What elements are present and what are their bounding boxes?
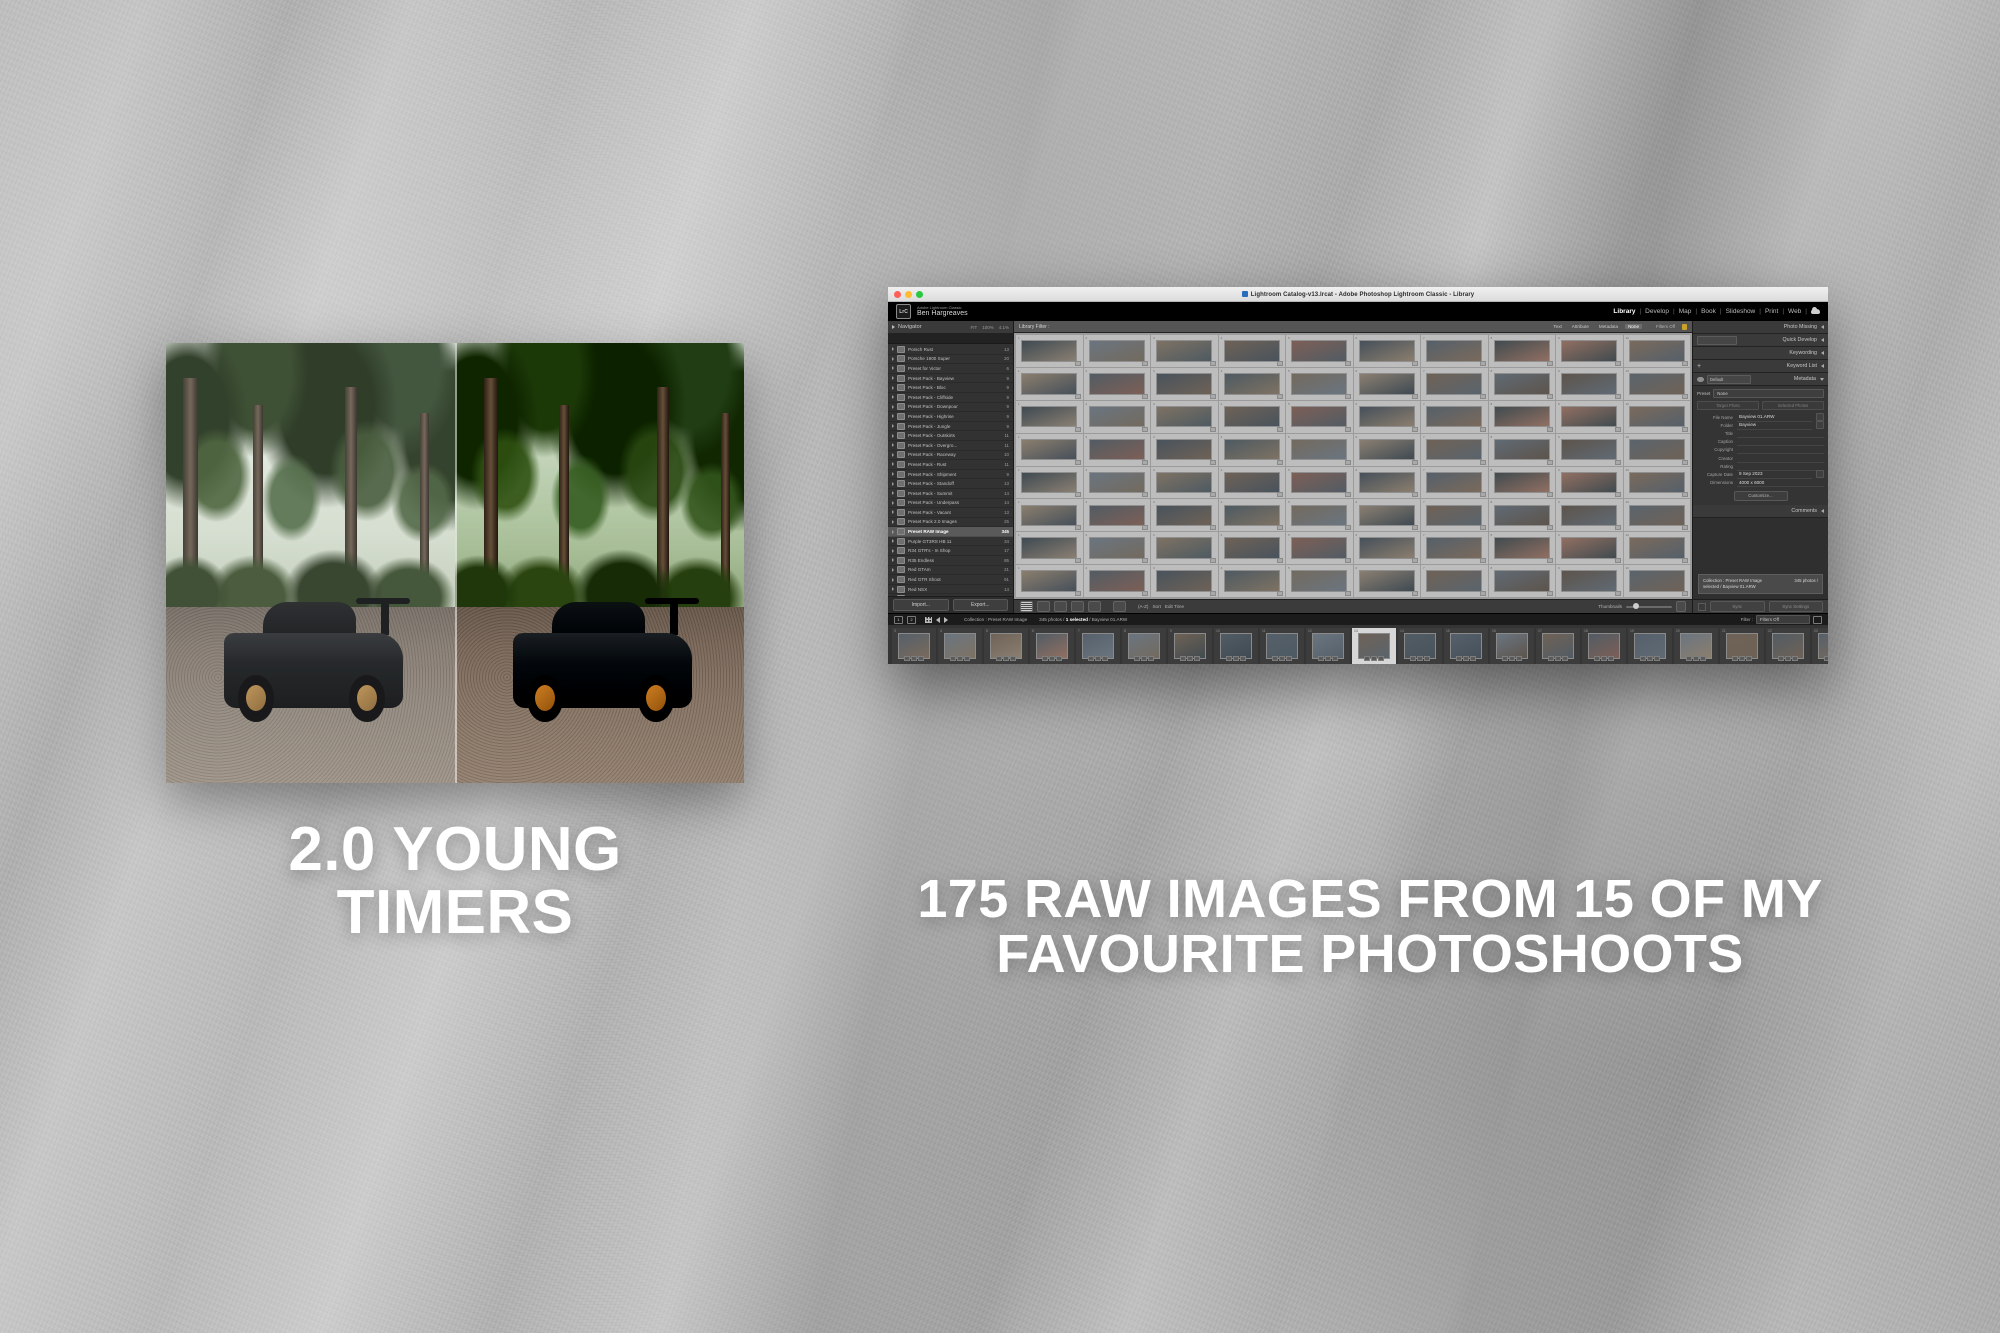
grid-thumbnail-cell[interactable]: 8 xyxy=(1489,434,1556,466)
disclosure-triangle-icon[interactable] xyxy=(892,530,894,534)
cell-badge-icon[interactable] xyxy=(1615,460,1621,465)
cell-badge-icon[interactable] xyxy=(1682,591,1688,596)
section-keywording[interactable]: Keywording xyxy=(1693,347,1828,360)
filmstrip[interactable]: 3456789101112131415161718192021222324 xyxy=(888,625,1828,664)
filmstrip-thumbnail[interactable]: 10 xyxy=(1214,628,1258,664)
identity-plate[interactable]: Adobe Lightroom Classic Ben Hargreaves xyxy=(917,305,968,319)
cell-badge-icon[interactable] xyxy=(1210,558,1216,563)
cell-badge-icon[interactable] xyxy=(1547,394,1553,399)
grid-thumbnail-cell[interactable]: 2 xyxy=(1084,532,1151,564)
cell-badge-icon[interactable] xyxy=(1277,591,1283,596)
collection-item[interactable]: Preset Pack - Rust11 xyxy=(888,460,1013,470)
cell-badge-icon[interactable] xyxy=(1412,427,1418,432)
collection-item[interactable]: R35 Endless85 xyxy=(888,556,1013,566)
grid-thumbnail-cell[interactable]: 5 xyxy=(1286,368,1353,400)
module-picker[interactable]: Library | Develop | Map | Book | Slidesh… xyxy=(1613,308,1820,315)
grid-thumbnail-cell[interactable]: 1 xyxy=(1016,565,1083,597)
filmstrip-thumbnail[interactable]: 9 xyxy=(1168,628,1212,664)
section-photo-missing[interactable]: Photo Missing xyxy=(1693,321,1828,334)
filmstrip-thumbnail[interactable]: 7 xyxy=(1076,628,1120,664)
grid-thumbnail-cell[interactable]: 5 xyxy=(1286,401,1353,433)
collection-item[interactable]: Preset Pack - Downpour9 xyxy=(888,403,1013,413)
cell-badge-icon[interactable] xyxy=(1480,361,1486,366)
grid-thumbnail-cell[interactable]: 5 xyxy=(1286,467,1353,499)
filter-select[interactable]: Filters Off xyxy=(1756,615,1810,624)
grid-thumbnail-cell[interactable]: 10 xyxy=(1624,401,1691,433)
zoom-fit[interactable]: FIT xyxy=(970,325,977,330)
collection-item[interactable]: Preset Pack - Underpass14 xyxy=(888,499,1013,509)
disclosure-triangle-icon[interactable] xyxy=(892,472,894,476)
metadata-target-buttons[interactable]: Target Photo Selected Photos xyxy=(1697,401,1824,410)
grid-thumbnail-cell[interactable]: 1 xyxy=(1016,467,1083,499)
disclosure-triangle-icon[interactable] xyxy=(892,462,894,466)
grid-thumbnail-cell[interactable]: 3 xyxy=(1151,467,1218,499)
disclosure-triangle-icon[interactable] xyxy=(892,578,894,582)
metadata-field-action-icon[interactable] xyxy=(1816,413,1824,421)
grid-thumbnail-cell[interactable]: 2 xyxy=(1084,467,1151,499)
eye-icon[interactable] xyxy=(1697,377,1704,382)
grid-thumbnail-cell[interactable]: 9 xyxy=(1556,467,1623,499)
grid-toolbar[interactable]: (A-Z) Sort Edit Time Thumbnails xyxy=(1014,599,1692,613)
grid-thumbnail-cell[interactable]: 1 xyxy=(1016,368,1083,400)
grid-thumbnail-cell[interactable]: 2 xyxy=(1084,401,1151,433)
cell-badge-icon[interactable] xyxy=(1210,361,1216,366)
grid-thumbnail-cell[interactable]: 10 xyxy=(1624,565,1691,597)
filmstrip-thumbnail[interactable]: 4 xyxy=(938,628,982,664)
filmstrip-badges[interactable] xyxy=(996,656,1016,662)
filmstrip-thumbnail[interactable]: 15 xyxy=(1444,628,1488,664)
cell-badge-icon[interactable] xyxy=(1210,427,1216,432)
cell-badge-icon[interactable] xyxy=(1277,361,1283,366)
cell-badge-icon[interactable] xyxy=(1682,427,1688,432)
disclosure-triangle-icon[interactable] xyxy=(892,510,894,514)
filmstrip-thumbnail[interactable]: 13 xyxy=(1352,628,1396,664)
grid-thumbnail-cell[interactable]: 9 xyxy=(1556,565,1623,597)
cell-badge-icon[interactable] xyxy=(1142,591,1148,596)
grid-thumbnail-cell[interactable]: 7 xyxy=(1421,401,1488,433)
filter-tab-text[interactable]: Text xyxy=(1550,324,1564,329)
cell-badge-icon[interactable] xyxy=(1345,427,1351,432)
cell-badge-icon[interactable] xyxy=(1277,394,1283,399)
grid-thumbnail-cell[interactable]: 10 xyxy=(1624,499,1691,531)
cell-badge-icon[interactable] xyxy=(1142,460,1148,465)
filmstrip-badges[interactable] xyxy=(1272,656,1292,662)
disclosure-triangle-icon[interactable] xyxy=(892,366,894,370)
filmstrip-badges[interactable] xyxy=(950,656,970,662)
caret-left-icon[interactable] xyxy=(1821,364,1824,368)
thumbnail-size-control[interactable]: Thumbnails xyxy=(1598,601,1686,612)
disclosure-triangle-icon[interactable] xyxy=(892,325,895,329)
grid-thumbnail-cell[interactable]: 7 xyxy=(1421,434,1488,466)
filmstrip-thumbnail[interactable]: 20 xyxy=(1674,628,1718,664)
sync-settings-button[interactable]: Sync Settings xyxy=(1769,601,1824,612)
grid-thumbnail-cell[interactable]: 5 xyxy=(1286,499,1353,531)
cell-badge-icon[interactable] xyxy=(1682,558,1688,563)
grid-thumbnail-cell[interactable]: 8 xyxy=(1489,401,1556,433)
collection-item[interactable]: Preset Pack - Bloc9 xyxy=(888,383,1013,393)
cell-badge-icon[interactable] xyxy=(1210,394,1216,399)
cell-badge-icon[interactable] xyxy=(1075,525,1081,530)
cell-badge-icon[interactable] xyxy=(1277,460,1283,465)
sync-row[interactable]: Sync Sync Settings xyxy=(1693,599,1828,613)
grid-thumbnail-cell[interactable]: 2 xyxy=(1084,565,1151,597)
cell-badge-icon[interactable] xyxy=(1412,394,1418,399)
module-library[interactable]: Library xyxy=(1613,308,1635,315)
disclosure-triangle-icon[interactable] xyxy=(892,376,894,380)
filmstrip-badges[interactable] xyxy=(1594,656,1614,662)
sort-az-icon[interactable]: (A-Z) xyxy=(1138,604,1148,609)
cell-badge-icon[interactable] xyxy=(1682,394,1688,399)
filmstrip-filter[interactable]: Filter : Filters Off xyxy=(1741,615,1822,624)
cell-badge-icon[interactable] xyxy=(1547,525,1553,530)
cell-badge-icon[interactable] xyxy=(1615,394,1621,399)
disclosure-triangle-icon[interactable] xyxy=(892,395,894,399)
disclosure-triangle-icon[interactable] xyxy=(892,443,894,447)
grid-thumbnail-cell[interactable]: 3 xyxy=(1151,401,1218,433)
filmstrip-badges[interactable] xyxy=(1686,656,1706,662)
cell-badge-icon[interactable] xyxy=(1075,558,1081,563)
cell-badge-icon[interactable] xyxy=(1682,492,1688,497)
filmstrip-bar[interactable]: 1 2 Collection : Preset RAW Image 345 ph… xyxy=(888,613,1828,625)
metadata-fields[interactable]: File NameBayview 01.ARWFolderBayviewTitl… xyxy=(1697,413,1824,487)
lock-icon[interactable] xyxy=(1682,324,1687,330)
grid-thumbnail-cell[interactable]: 7 xyxy=(1421,532,1488,564)
section-metadata[interactable]: Default Metadata xyxy=(1693,373,1828,386)
library-filter-tabs[interactable]: Text Attribute Metadata None Filters Off xyxy=(1550,324,1687,330)
grid-thumbnail-cell[interactable]: 4 xyxy=(1219,368,1286,400)
cell-badge-icon[interactable] xyxy=(1547,427,1553,432)
filmstrip-badges[interactable] xyxy=(1364,656,1384,662)
collection-item[interactable]: Porsch Rust13 xyxy=(888,345,1013,355)
cell-badge-icon[interactable] xyxy=(1075,361,1081,366)
grid-thumbnail-cell[interactable]: 4 xyxy=(1219,335,1286,367)
module-map[interactable]: Map xyxy=(1679,308,1692,315)
cloud-sync-icon[interactable] xyxy=(1811,309,1820,314)
grid-thumbnail-cell[interactable]: 10 xyxy=(1624,434,1691,466)
cell-badge-icon[interactable] xyxy=(1075,492,1081,497)
cell-badge-icon[interactable] xyxy=(1277,525,1283,530)
grid-thumbnail-cell[interactable]: 3 xyxy=(1151,368,1218,400)
cell-badge-icon[interactable] xyxy=(1412,460,1418,465)
grid-thumbnail-cell[interactable]: 8 xyxy=(1489,335,1556,367)
collection-item[interactable]: Preset Pack - Shipment9 xyxy=(888,470,1013,480)
grid-thumbnail-cell[interactable]: 7 xyxy=(1421,467,1488,499)
cell-badge-icon[interactable] xyxy=(1345,591,1351,596)
collection-item[interactable]: Preset RAW Image345 xyxy=(888,527,1013,537)
cell-badge-icon[interactable] xyxy=(1412,525,1418,530)
grid-thumbnail-cell[interactable]: 7 xyxy=(1421,368,1488,400)
collection-item[interactable]: Red GTAm21 xyxy=(888,566,1013,576)
cell-badge-icon[interactable] xyxy=(1682,361,1688,366)
grid-thumbnail-cell[interactable]: 8 xyxy=(1489,532,1556,564)
cell-badge-icon[interactable] xyxy=(1277,558,1283,563)
grid-thumbnail-cell[interactable]: 2 xyxy=(1084,335,1151,367)
cell-badge-icon[interactable] xyxy=(1547,591,1553,596)
filmstrip-badges[interactable] xyxy=(1778,656,1798,662)
grid-thumbnail-cell[interactable]: 2 xyxy=(1084,499,1151,531)
cell-badge-icon[interactable] xyxy=(1412,492,1418,497)
grid-thumbnail-cell[interactable]: 6 xyxy=(1354,434,1421,466)
filmstrip-thumbnail[interactable]: 21 xyxy=(1720,628,1764,664)
filmstrip-thumbnail[interactable]: 22 xyxy=(1766,628,1810,664)
arrow-right-icon[interactable] xyxy=(944,617,948,623)
grid-thumbnail-cell[interactable]: 9 xyxy=(1556,434,1623,466)
grid-thumbnail-cell[interactable]: 1 xyxy=(1016,532,1083,564)
grid-thumbnail-cell[interactable]: 8 xyxy=(1489,499,1556,531)
thumbnail-size-slider[interactable] xyxy=(1626,606,1672,608)
disclosure-triangle-icon[interactable] xyxy=(892,453,894,457)
cell-badge-icon[interactable] xyxy=(1615,591,1621,596)
export-button[interactable]: Export... xyxy=(953,599,1009,611)
grid-thumbnail-cell[interactable]: 10 xyxy=(1624,532,1691,564)
grid-thumbnail-cell[interactable]: 10 xyxy=(1624,335,1691,367)
collection-item[interactable]: Red GTR Shoot91 xyxy=(888,575,1013,585)
cell-badge-icon[interactable] xyxy=(1480,492,1486,497)
grid-view-icon[interactable] xyxy=(1020,601,1033,612)
grid-thumbnail-cell[interactable]: 4 xyxy=(1219,565,1286,597)
preset-value[interactable]: None xyxy=(1713,389,1824,398)
collection-item[interactable]: Preset Pack - Jungle9 xyxy=(888,422,1013,432)
collection-item[interactable]: Preset Pack - Bayview9 xyxy=(888,374,1013,384)
grid-thumbnail-cell[interactable]: 4 xyxy=(1219,434,1286,466)
filmstrip-thumbnail[interactable]: 5 xyxy=(984,628,1028,664)
disclosure-triangle-icon[interactable] xyxy=(892,549,894,553)
cell-badge-icon[interactable] xyxy=(1075,394,1081,399)
cell-badge-icon[interactable] xyxy=(1480,591,1486,596)
filmstrip-thumbnail[interactable]: 11 xyxy=(1260,628,1304,664)
grid-thumbnail-cell[interactable]: 5 xyxy=(1286,434,1353,466)
edit-time-label[interactable]: Edit Time xyxy=(1165,604,1184,609)
grid-thumbnail-cell[interactable]: 6 xyxy=(1354,401,1421,433)
target-photo-button[interactable]: Target Photo xyxy=(1697,401,1759,410)
collection-item[interactable]: Preset Pack - Standoff13 xyxy=(888,479,1013,489)
quick-develop-preset-select[interactable] xyxy=(1697,336,1737,345)
disclosure-triangle-icon[interactable] xyxy=(892,520,894,524)
filmstrip-badges[interactable] xyxy=(1502,656,1522,662)
thumbnail-grid[interactable]: 1234567891012345678910123456789101234567… xyxy=(1014,333,1692,599)
filmstrip-badges[interactable] xyxy=(1456,656,1476,662)
disclosure-triangle-icon[interactable] xyxy=(892,539,894,543)
collection-item[interactable]: Preset Pack - Summit14 xyxy=(888,489,1013,499)
cell-badge-icon[interactable] xyxy=(1480,525,1486,530)
cell-badge-icon[interactable] xyxy=(1412,361,1418,366)
grid-thumbnail-cell[interactable]: 6 xyxy=(1354,467,1421,499)
filter-lock-icon[interactable] xyxy=(1813,616,1822,624)
metadata-preset-row[interactable]: Preset None xyxy=(1697,389,1824,398)
grid-thumbnail-cell[interactable]: 1 xyxy=(1016,401,1083,433)
filmstrip-badges[interactable] xyxy=(1226,656,1246,662)
module-develop[interactable]: Develop xyxy=(1645,308,1669,315)
navigator-header[interactable]: Navigator FIT 100% 4.1% xyxy=(888,321,1013,334)
cell-badge-icon[interactable] xyxy=(1547,492,1553,497)
add-keyword-icon[interactable]: + xyxy=(1697,363,1701,370)
collection-item[interactable]: Preset Pack - Cliffside9 xyxy=(888,393,1013,403)
module-book[interactable]: Book xyxy=(1701,308,1716,315)
grid-thumbnail-cell[interactable]: 5 xyxy=(1286,565,1353,597)
cell-badge-icon[interactable] xyxy=(1480,558,1486,563)
grid-thumbnail-cell[interactable]: 4 xyxy=(1219,467,1286,499)
slider-knob[interactable] xyxy=(1633,603,1639,609)
cell-badge-icon[interactable] xyxy=(1480,427,1486,432)
metadata-preset-select[interactable]: Default xyxy=(1707,375,1751,384)
collection-item[interactable]: Porsche 1900 Super20 xyxy=(888,355,1013,365)
disclosure-triangle-icon[interactable] xyxy=(892,568,894,572)
cell-badge-icon[interactable] xyxy=(1345,394,1351,399)
cell-badge-icon[interactable] xyxy=(1345,361,1351,366)
grid-thumbnail-cell[interactable]: 8 xyxy=(1489,467,1556,499)
disclosure-triangle-icon[interactable] xyxy=(892,558,894,562)
survey-view-icon[interactable] xyxy=(1071,601,1084,612)
cell-badge-icon[interactable] xyxy=(1210,460,1216,465)
cell-badge-icon[interactable] xyxy=(1142,427,1148,432)
grid-thumbnail-cell[interactable]: 1 xyxy=(1016,434,1083,466)
disclosure-triangle-icon[interactable] xyxy=(892,424,894,428)
disclosure-triangle-icon[interactable] xyxy=(892,587,894,591)
grid-thumbnail-cell[interactable]: 5 xyxy=(1286,335,1353,367)
cell-badge-icon[interactable] xyxy=(1142,492,1148,497)
grid-thumbnail-cell[interactable]: 3 xyxy=(1151,499,1218,531)
disclosure-triangle-icon[interactable] xyxy=(892,501,894,505)
cell-badge-icon[interactable] xyxy=(1547,361,1553,366)
disclosure-triangle-icon[interactable] xyxy=(892,414,894,418)
cell-badge-icon[interactable] xyxy=(1277,427,1283,432)
metadata-field-value[interactable]: 4000 x 6000 xyxy=(1737,478,1824,487)
filmstrip-badges[interactable] xyxy=(1180,656,1200,662)
filmstrip-badges[interactable] xyxy=(1732,656,1752,662)
grid-thumbnail-cell[interactable]: 9 xyxy=(1556,401,1623,433)
grid-thumbnail-cell[interactable]: 2 xyxy=(1084,434,1151,466)
filmstrip-thumbnail[interactable]: 6 xyxy=(1030,628,1074,664)
grid-thumbnail-cell[interactable]: 7 xyxy=(1421,565,1488,597)
metadata-field[interactable]: Dimensions4000 x 6000 xyxy=(1697,479,1824,487)
spray-can-icon[interactable] xyxy=(1113,601,1126,612)
filter-tab-metadata[interactable]: Metadata xyxy=(1596,324,1621,329)
filmstrip-badges[interactable] xyxy=(1548,656,1568,662)
cell-badge-icon[interactable] xyxy=(1142,361,1148,366)
import-button[interactable]: Import... xyxy=(893,599,949,611)
selected-photos-button[interactable]: Selected Photos xyxy=(1762,401,1824,410)
grid-thumbnail-cell[interactable]: 4 xyxy=(1219,532,1286,564)
collection-item[interactable]: Purple GT3RS HB 1134 xyxy=(888,537,1013,547)
collections-list[interactable]: Porsch Rust13Porsche 1900 Super20Preset … xyxy=(888,344,1013,596)
grid-thumbnail-cell[interactable]: 2 xyxy=(1084,368,1151,400)
filmstrip-thumbnail[interactable]: 16 xyxy=(1490,628,1534,664)
cell-badge-icon[interactable] xyxy=(1277,492,1283,497)
filmstrip-badges[interactable] xyxy=(1410,656,1430,662)
collection-item[interactable]: Preset for Victor6 xyxy=(888,364,1013,374)
collection-item[interactable]: Preset Pack - Vacant13 xyxy=(888,508,1013,518)
collection-item[interactable]: Preset Pack - Overgro...11 xyxy=(888,441,1013,451)
cell-badge-icon[interactable] xyxy=(1480,394,1486,399)
disclosure-triangle-icon[interactable] xyxy=(892,491,894,495)
cell-badge-icon[interactable] xyxy=(1075,591,1081,596)
collection-item[interactable]: R34 GTR's - In Shop17 xyxy=(888,546,1013,556)
disclosure-triangle-icon[interactable] xyxy=(892,405,894,409)
cell-badge-icon[interactable] xyxy=(1345,525,1351,530)
disclosure-triangle-icon[interactable] xyxy=(892,386,894,390)
cell-badge-icon[interactable] xyxy=(1412,591,1418,596)
zoom-100[interactable]: 100% xyxy=(982,325,994,330)
cell-badge-icon[interactable] xyxy=(1412,558,1418,563)
module-slideshow[interactable]: Slideshow xyxy=(1726,308,1756,315)
section-quick-develop[interactable]: Quick Develop xyxy=(1693,334,1828,347)
disclosure-triangle-icon[interactable] xyxy=(892,434,894,438)
zoom-custom[interactable]: 4.1% xyxy=(999,325,1009,330)
grid-thumbnail-cell[interactable]: 7 xyxy=(1421,335,1488,367)
filmstrip-thumbnail[interactable]: 14 xyxy=(1398,628,1442,664)
cell-badge-icon[interactable] xyxy=(1547,558,1553,563)
grid-thumbnail-cell[interactable]: 4 xyxy=(1219,499,1286,531)
cell-badge-icon[interactable] xyxy=(1547,460,1553,465)
grid-thumbnail-cell[interactable]: 5 xyxy=(1286,532,1353,564)
collection-item[interactable]: Preset Pack - Outskirts11 xyxy=(888,431,1013,441)
filmstrip-badges[interactable] xyxy=(1824,656,1828,662)
grid-thumbnail-cell[interactable]: 9 xyxy=(1556,368,1623,400)
grid-thumbnail-cell[interactable]: 10 xyxy=(1624,368,1691,400)
filmstrip-badges[interactable] xyxy=(1318,656,1338,662)
grid-thumbnail-cell[interactable]: 6 xyxy=(1354,532,1421,564)
arrow-left-icon[interactable] xyxy=(936,617,940,623)
grid-thumbnail-cell[interactable]: 3 xyxy=(1151,532,1218,564)
filmstrip-thumbnail[interactable]: 3 xyxy=(892,628,936,664)
grid-thumbnail-cell[interactable]: 8 xyxy=(1489,368,1556,400)
cell-badge-icon[interactable] xyxy=(1075,460,1081,465)
module-web[interactable]: Web xyxy=(1788,308,1801,315)
cell-badge-icon[interactable] xyxy=(1142,558,1148,563)
caret-down-icon[interactable] xyxy=(1820,378,1824,381)
filmstrip-thumbnail[interactable]: 12 xyxy=(1306,628,1350,664)
cell-badge-icon[interactable] xyxy=(1345,492,1351,497)
filmstrip-thumbnail[interactable]: 17 xyxy=(1536,628,1580,664)
module-print[interactable]: Print xyxy=(1765,308,1778,315)
collection-item[interactable]: Preset Pack - Raceway10 xyxy=(888,451,1013,461)
sync-button[interactable]: Sync xyxy=(1710,601,1765,612)
grid-thumbnail-cell[interactable]: 8 xyxy=(1489,565,1556,597)
collection-item[interactable]: Preset Pack - Highrise9 xyxy=(888,412,1013,422)
grid-thumbnail-cell[interactable]: 6 xyxy=(1354,565,1421,597)
caret-left-icon[interactable] xyxy=(1821,509,1824,513)
grid-thumbnail-cell[interactable]: 9 xyxy=(1556,335,1623,367)
caret-left-icon[interactable] xyxy=(1821,351,1824,355)
cell-badge-icon[interactable] xyxy=(1210,525,1216,530)
filmstrip-thumbnail[interactable]: 23 xyxy=(1812,628,1828,664)
cell-badge-icon[interactable] xyxy=(1075,427,1081,432)
cell-badge-icon[interactable] xyxy=(1480,460,1486,465)
cell-badge-icon[interactable] xyxy=(1615,492,1621,497)
filter-tab-none[interactable]: None xyxy=(1625,324,1642,329)
grid-icon[interactable] xyxy=(925,617,932,623)
filmstrip-thumbnail[interactable]: 18 xyxy=(1582,628,1626,664)
caret-left-icon[interactable] xyxy=(1821,325,1824,329)
cell-badge-icon[interactable] xyxy=(1615,427,1621,432)
customize-button[interactable]: Customize... xyxy=(1734,491,1788,501)
grid-thumbnail-cell[interactable]: 1 xyxy=(1016,335,1083,367)
chevron-down-icon[interactable] xyxy=(1676,601,1686,612)
grid-thumbnail-cell[interactable]: 9 xyxy=(1556,499,1623,531)
cell-badge-icon[interactable] xyxy=(1210,591,1216,596)
page-2-button[interactable]: 2 xyxy=(907,616,916,624)
filmstrip-badges[interactable] xyxy=(1042,656,1062,662)
grid-thumbnail-cell[interactable]: 1 xyxy=(1016,499,1083,531)
filmstrip-badges[interactable] xyxy=(1134,656,1154,662)
grid-thumbnail-cell[interactable]: 4 xyxy=(1219,401,1286,433)
grid-thumbnail-cell[interactable]: 6 xyxy=(1354,368,1421,400)
grid-thumbnail-cell[interactable]: 3 xyxy=(1151,565,1218,597)
filmstrip-badges[interactable] xyxy=(1640,656,1660,662)
cell-badge-icon[interactable] xyxy=(1142,525,1148,530)
disclosure-triangle-icon[interactable] xyxy=(892,347,894,351)
grid-thumbnail-cell[interactable]: 6 xyxy=(1354,499,1421,531)
